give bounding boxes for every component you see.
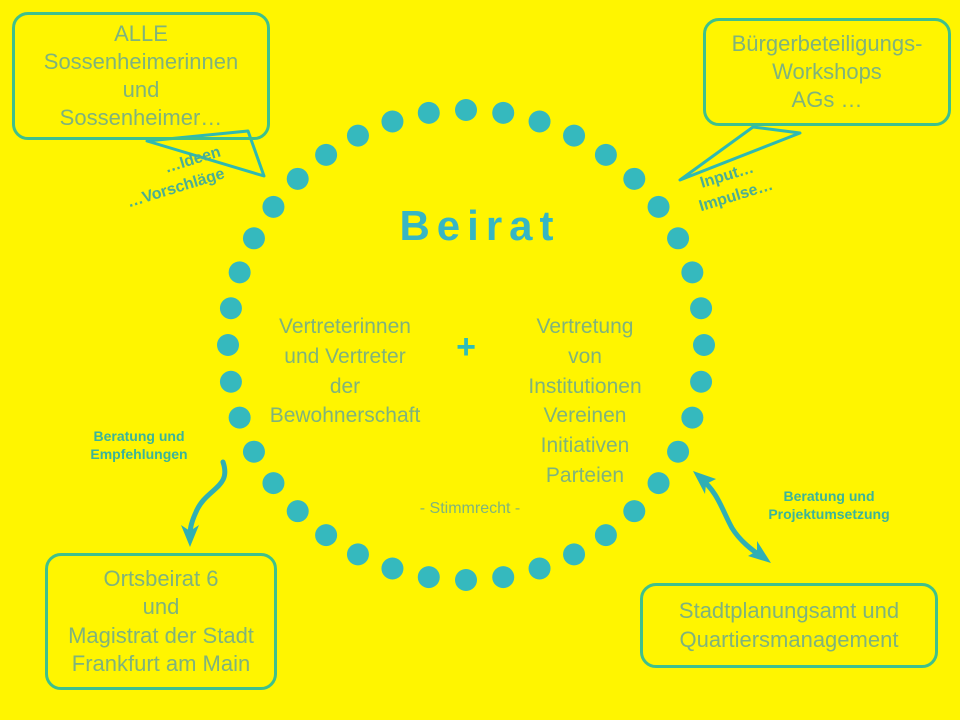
stadtplanung-line-2: Quartiersmanagement xyxy=(680,626,899,654)
ring-dot xyxy=(681,261,703,283)
ring-dot xyxy=(287,168,309,190)
ortsbeirat-line-3: Magistrat der Stadt xyxy=(68,622,254,650)
ring-dot xyxy=(563,125,585,147)
ring-dot xyxy=(529,558,551,580)
arrow-label-be-line-2: Empfehlungen xyxy=(90,446,187,462)
ortsbeirat-line-1: Ortsbeirat 6 xyxy=(104,565,219,593)
col-left-line-4: Bewohnerschaft xyxy=(252,401,438,431)
ring-dot xyxy=(492,102,514,124)
ring-dot xyxy=(595,524,617,546)
ortsbeirat-line-2: und xyxy=(143,593,180,621)
diagram-canvas: ALLE Sossenheimerinnen und Sossenheimer…… xyxy=(0,0,960,720)
col-right-line-5: Initiativen xyxy=(492,431,678,461)
ortsbeirat-line-4: Frankfurt am Main xyxy=(72,650,251,678)
ring-dot xyxy=(693,334,715,356)
col-right-line-4: Vereinen xyxy=(492,401,678,431)
callout-box-alle[interactable]: ALLE Sossenheimerinnen und Sossenheimer… xyxy=(12,12,270,140)
callout-alle-line-4: Sossenheimer… xyxy=(60,104,223,132)
center-column-institutionen: Vertretung von Institutionen Vereinen In… xyxy=(492,312,678,491)
ring-dot xyxy=(455,569,477,591)
ring-dot xyxy=(623,168,645,190)
ring-dot xyxy=(217,334,239,356)
ring-dot xyxy=(315,144,337,166)
ring-dot xyxy=(690,297,712,319)
box-ortsbeirat-magistrat[interactable]: Ortsbeirat 6 und Magistrat der Stadt Fra… xyxy=(45,553,277,690)
arrow-label-beratung-empfehlungen: Beratung und Empfehlungen xyxy=(74,427,204,463)
arrow-label-bp-line-2: Projektumsetzung xyxy=(768,506,889,522)
callout-buerger-line-3: AGs … xyxy=(792,86,863,114)
ring-dot xyxy=(347,125,369,147)
ring-dot xyxy=(243,441,265,463)
callout-box-buergerbeteiligung[interactable]: Bürgerbeteiligungs- Workshops AGs … xyxy=(703,18,951,126)
col-right-line-6: Parteien xyxy=(492,461,678,491)
ring-dot xyxy=(381,558,403,580)
arrow-label-be-line-1: Beratung und xyxy=(94,428,185,444)
ring-dot xyxy=(690,371,712,393)
callout-alle-line-1: ALLE xyxy=(114,20,168,48)
col-left-line-2: und Vertreter xyxy=(252,342,438,372)
stadtplanung-line-1: Stadtplanungsamt und xyxy=(679,597,899,625)
arrow-beratung-empfehlungen xyxy=(181,462,225,547)
ring-dot xyxy=(563,543,585,565)
ring-dot xyxy=(229,407,251,429)
ring-dot xyxy=(315,524,337,546)
arrow-label-beratung-projektumsetzung: Beratung und Projektumsetzung xyxy=(744,487,914,523)
plus-icon: + xyxy=(448,330,484,364)
footnote-stimmrecht: - Stimmrecht - xyxy=(350,500,590,518)
center-column-bewohnerschaft: Vertreterinnen und Vertreter der Bewohne… xyxy=(252,312,438,431)
arrow-label-bp-line-1: Beratung und xyxy=(784,488,875,504)
ring-dot xyxy=(492,566,514,588)
ring-dot xyxy=(347,543,369,565)
ring-dot xyxy=(623,500,645,522)
ring-dot xyxy=(595,144,617,166)
ring-dot xyxy=(229,261,251,283)
col-right-line-1: Vertretung xyxy=(492,312,678,342)
col-right-line-3: Institutionen xyxy=(492,372,678,402)
ring-dot xyxy=(262,472,284,494)
ring-dot xyxy=(287,500,309,522)
ring-dot xyxy=(681,407,703,429)
callout-alle-line-2: Sossenheimerinnen xyxy=(44,48,238,76)
callout-buerger-line-1: Bürgerbeteiligungs- xyxy=(732,30,923,58)
box-stadtplanungsamt-quartiersmanagement[interactable]: Stadtplanungsamt und Quartiersmanagement xyxy=(640,583,938,668)
callout-alle-line-3: und xyxy=(123,76,160,104)
callout-buerger-line-2: Workshops xyxy=(772,58,882,86)
ring-dot xyxy=(220,371,242,393)
col-left-line-1: Vertreterinnen xyxy=(252,312,438,342)
col-right-line-2: von xyxy=(492,342,678,372)
ring-dot xyxy=(381,111,403,133)
ring-dot xyxy=(220,297,242,319)
ring-dot xyxy=(455,99,477,121)
ring-dot xyxy=(529,111,551,133)
col-left-line-3: der xyxy=(252,372,438,402)
ring-dot xyxy=(418,102,440,124)
ring-dot xyxy=(418,566,440,588)
